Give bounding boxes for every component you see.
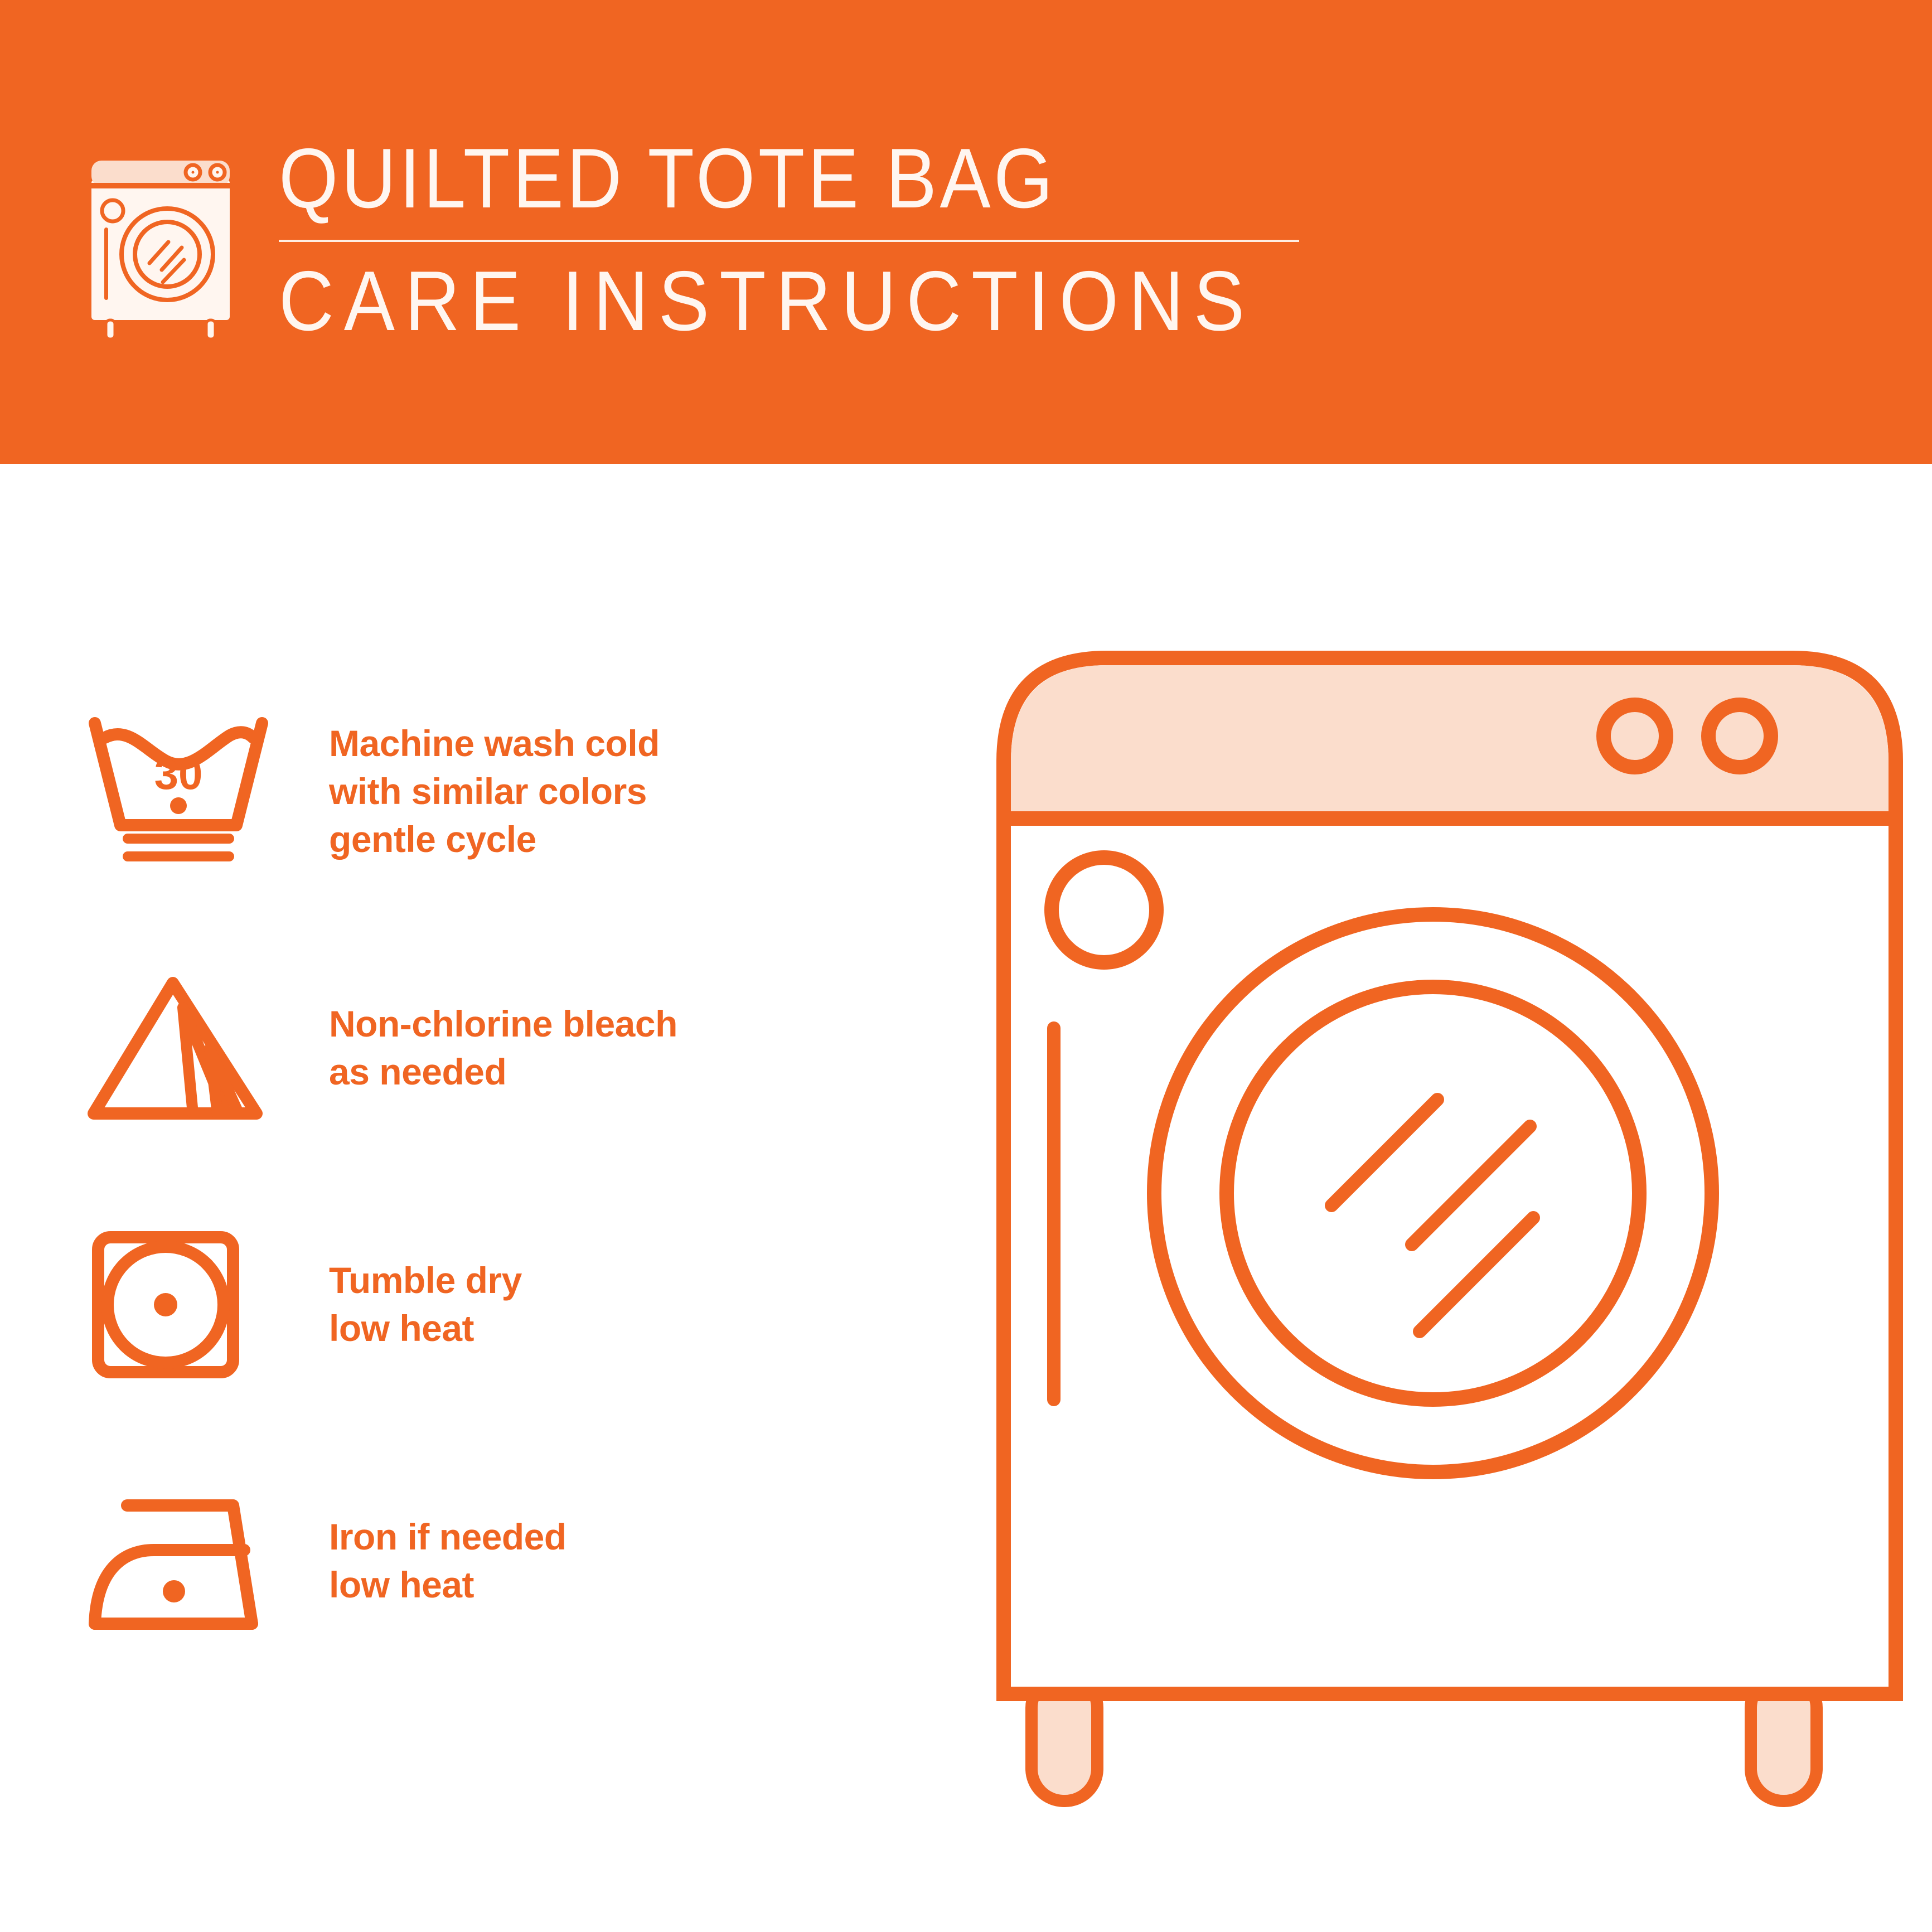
care-label-line: low heat bbox=[329, 1305, 909, 1353]
care-label-line: with similar colors bbox=[329, 768, 909, 816]
care-label-line: as needed bbox=[329, 1048, 909, 1096]
title-divider bbox=[279, 240, 1299, 242]
care-label-wash: Machine wash cold with similar colors ge… bbox=[329, 720, 909, 863]
header-title-block: QUILTED TOTE BAG CARE INSTRUCTIONS bbox=[279, 133, 1363, 343]
care-label-line: Iron if needed bbox=[329, 1513, 909, 1561]
knob-left bbox=[1604, 705, 1666, 767]
washing-machine-illustration bbox=[970, 624, 1918, 1873]
care-label-line: low heat bbox=[329, 1561, 909, 1609]
door-seam-line bbox=[1047, 1021, 1061, 1406]
machine-wash-30-gentle-symbol: 30 bbox=[84, 700, 318, 884]
care-label-line: Non-chlorine bleach bbox=[329, 1000, 909, 1048]
care-label-iron: Iron if needed low heat bbox=[329, 1513, 909, 1609]
care-row-wash: 30 Machine wash cold with similar colors… bbox=[84, 664, 909, 920]
care-label-line: Tumble dry bbox=[329, 1257, 909, 1305]
care-instruction-list: 30 Machine wash cold with similar colors… bbox=[84, 664, 909, 1689]
header-banner: QUILTED TOTE BAG CARE INSTRUCTIONS bbox=[0, 0, 1932, 464]
knob-right bbox=[1708, 705, 1771, 767]
page-subtitle: CARE INSTRUCTIONS bbox=[279, 259, 1255, 343]
page-title: QUILTED TOTE BAG bbox=[279, 136, 1255, 221]
care-row-tumble-dry: Tumble dry low heat bbox=[84, 1176, 909, 1433]
header-content: QUILTED TOTE BAG CARE INSTRUCTIONS bbox=[84, 133, 1363, 343]
care-row-iron: Iron if needed low heat bbox=[84, 1433, 909, 1689]
care-label-line: Machine wash cold bbox=[329, 720, 909, 768]
care-label-bleach: Non-chlorine bleach as needed bbox=[329, 1000, 909, 1096]
care-label-line: gentle cycle bbox=[329, 816, 909, 864]
care-label-tumble-dry: Tumble dry low heat bbox=[329, 1257, 909, 1353]
wash-temp-label: 30 bbox=[154, 749, 203, 798]
iron-low-heat-symbol bbox=[84, 1469, 318, 1653]
tumble-dry-low-symbol bbox=[84, 1213, 318, 1397]
care-row-bleach: Non-chlorine bleach as needed bbox=[84, 920, 909, 1176]
non-chlorine-bleach-symbol bbox=[84, 956, 318, 1140]
washing-machine-icon bbox=[84, 145, 245, 346]
